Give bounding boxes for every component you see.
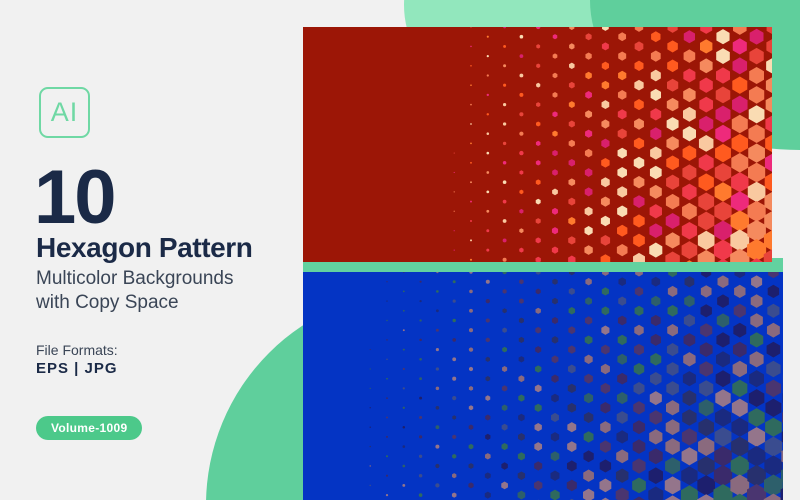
page-subtitle-line-1: Multicolor Backgrounds — [36, 267, 286, 291]
volume-badge: Volume-1009 — [36, 416, 142, 440]
blue-hexagon-pattern — [303, 272, 783, 500]
page-subtitle-line-2: with Copy Space — [36, 291, 286, 315]
page-subtitle: Multicolor Backgrounds with Copy Space — [36, 267, 286, 315]
red-hexagon-pattern — [303, 27, 772, 262]
ai-format-badge: AI — [39, 87, 90, 138]
ai-format-badge-label: AI — [51, 99, 79, 126]
blue-hexagon-preview — [303, 272, 783, 500]
poster-canvas: AI 10 Hexagon Pattern Multicolor Backgro… — [0, 0, 800, 500]
file-formats-value: EPS | JPG — [36, 360, 118, 377]
info-column: AI 10 Hexagon Pattern Multicolor Backgro… — [0, 0, 300, 500]
page-title: Hexagon Pattern — [36, 234, 253, 262]
file-formats-label: File Formats: — [36, 342, 118, 358]
item-count: 10 — [34, 160, 115, 236]
red-hexagon-preview — [303, 27, 772, 262]
